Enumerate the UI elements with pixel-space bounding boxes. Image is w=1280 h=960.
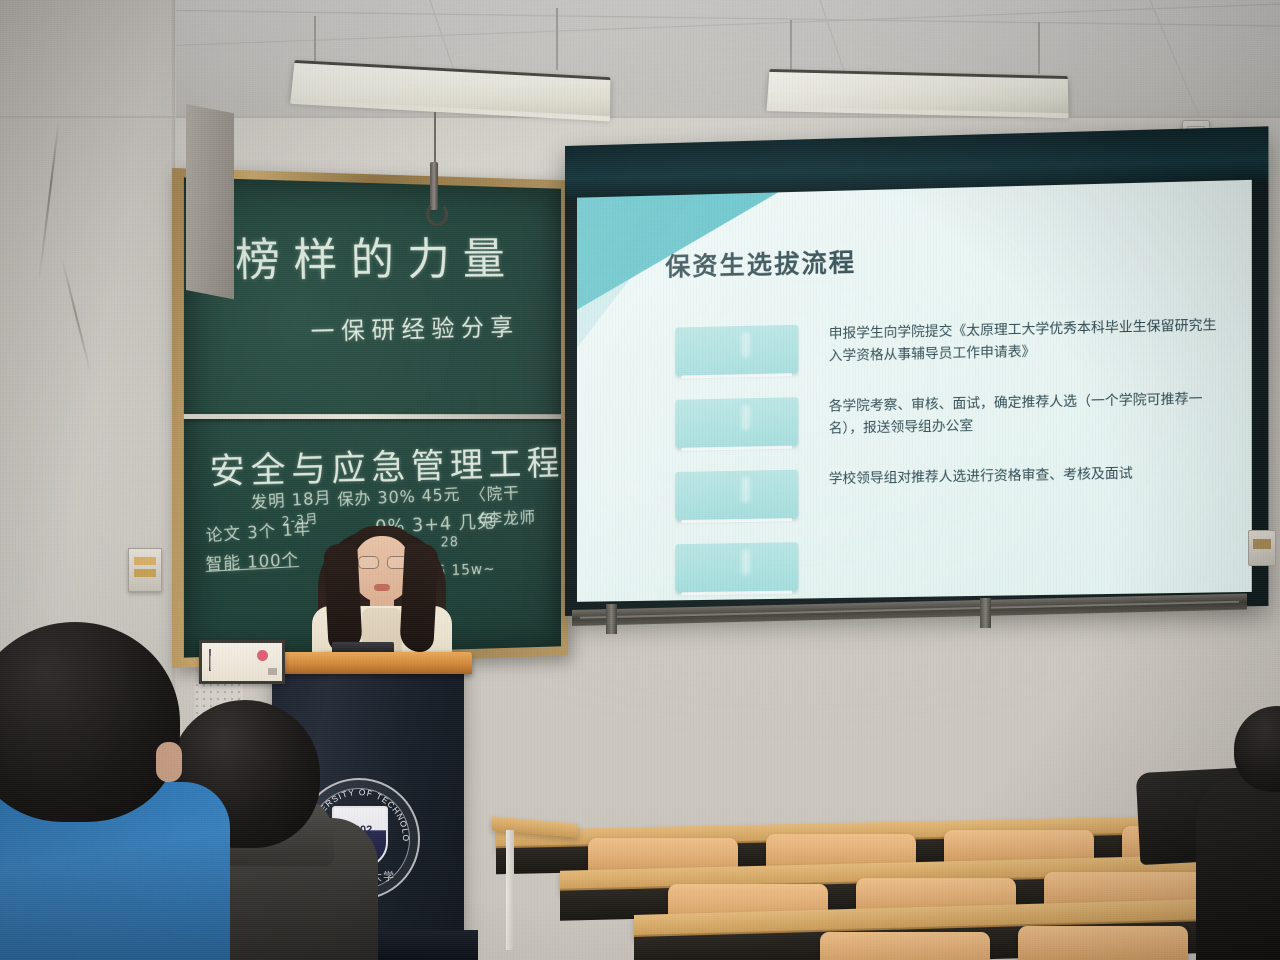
light-rod-right-b — [1038, 22, 1040, 74]
slide-title: 保资生选拔流程 — [665, 243, 856, 284]
left-wall-panel — [0, 0, 176, 700]
classroom-photo: 榜样的力量 一保研经验分享 安全与应急管理工程学院 发明 18月 2-3月 保办… — [0, 0, 1280, 960]
slide-step-3: 学校领导组对推荐人选进行资格审查、考核及面试 — [675, 462, 1220, 534]
chair-r1-1[interactable] — [820, 932, 990, 960]
lectern-side-panel — [186, 104, 234, 299]
step-box-icon-3 — [675, 470, 798, 520]
ceiling-grid-lines — [0, 0, 1280, 118]
step-box-icon-1 — [675, 325, 798, 376]
blackboard-note-7: 智能 100个 — [205, 545, 299, 575]
audience-member-right — [1206, 706, 1280, 960]
step-text-1: 申报学生向学院提交《太原理工大学优秀本科毕业生保留研究生入学资格从事辅导员工作申… — [829, 315, 1221, 368]
audience-member-left — [0, 622, 210, 960]
blackboard-hanger-clip — [430, 162, 438, 210]
presentation-slide: 保资生选拔流程 申报学生向学院提交《太原理工大学优秀本科毕业生保留研究生入学资格… — [577, 180, 1252, 602]
presenter-mouth — [374, 584, 390, 591]
slide-step-4 — [675, 535, 1220, 602]
step-text-3: 学校领导组对推荐人选进行资格审查、考核及面试 — [829, 462, 1221, 491]
ceiling-light-right — [767, 69, 1069, 114]
rail-bracket-left — [606, 604, 617, 634]
blackboard-chalk-ledge — [184, 414, 561, 419]
framed-calligraphy-sign — [199, 640, 285, 684]
projection-screen: 保资生选拔流程 申报学生向学院提交《太原理工大学优秀本科毕业生保留研究生入学资格… — [565, 126, 1268, 616]
light-rod-left-b — [556, 8, 558, 70]
step-box-icon-2 — [675, 397, 798, 448]
slide-step-2: 各学院考察、审核、面试，确定推荐人选（一个学院可推荐一名），报送领导组办公室 — [675, 389, 1220, 462]
step-text-2: 各学院考察、审核、面试，确定推荐人选（一个学院可推荐一名），报送领导组办公室 — [829, 389, 1221, 441]
presenter-hair-right — [399, 543, 439, 653]
blackboard-note-3: 〈院干 — [470, 479, 520, 505]
presenter-glasses — [358, 556, 406, 567]
light-rod-right-a — [790, 20, 792, 74]
presenter-hair-left — [323, 543, 363, 653]
blackboard-subtitle: 一保研经验分享 — [310, 308, 520, 348]
blackboard-hanger-wire — [434, 112, 436, 168]
step-box-icon-4 — [675, 542, 798, 592]
chair-r1-2[interactable] — [1018, 926, 1188, 960]
wall-outlet[interactable] — [1248, 530, 1276, 566]
slide-step-list: 申报学生向学院提交《太原理工大学优秀本科毕业生保留研究生入学资格从事辅导员工作申… — [675, 315, 1220, 590]
blackboard-note-4: 论文 3个 1年 — [205, 514, 311, 546]
desk-left-leg — [506, 830, 514, 950]
blackboard-note-2: 保办 30% 45元 — [337, 480, 461, 510]
wall-control-box[interactable] — [128, 548, 162, 592]
blackboard-note-6: 〈李龙师 — [470, 504, 536, 531]
blackboard-main-title: 榜样的力量 — [234, 224, 518, 290]
rail-bracket-right — [980, 598, 991, 628]
blackboard-note-0: 发明 18月 — [250, 483, 332, 513]
lectern-top-surface — [264, 652, 472, 674]
slide-step-1: 申报学生向学院提交《太原理工大学优秀本科毕业生保留研究生入学资格从事辅导员工作申… — [675, 315, 1220, 390]
step-text-4 — [829, 535, 1221, 541]
